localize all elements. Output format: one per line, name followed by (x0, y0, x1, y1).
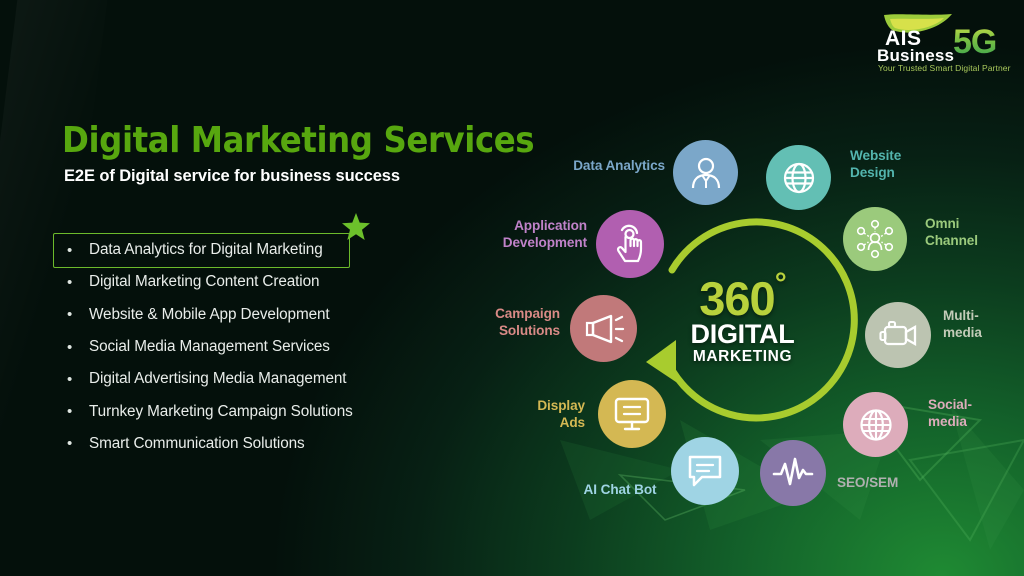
list-item[interactable]: • Digital Marketing Content Creation (62, 266, 462, 298)
pulse-wave-icon (772, 456, 814, 490)
list-item-label: Digital Advertising Media Management (89, 370, 346, 388)
wheel-node-campaign-solutions[interactable] (570, 295, 637, 362)
list-item-label: Turnkey Marketing Campaign Solutions (89, 403, 353, 421)
wheel-center-line3: MARKETING (650, 348, 835, 367)
bullet-glyph: • (62, 306, 89, 323)
wheel-node-website-design[interactable] (766, 145, 831, 210)
wheel-node-application-development[interactable] (596, 210, 664, 278)
wheel-node-display-ads[interactable] (598, 380, 666, 448)
logo-tagline: Your Trusted Smart Digital Partner (878, 63, 1011, 73)
list-item[interactable]: • Smart Communication Solutions (62, 428, 462, 460)
wheel-center-text: 360° DIGITAL MARKETING (650, 270, 835, 367)
bullet-glyph: • (62, 274, 89, 291)
list-item-label: Digital Marketing Content Creation (89, 273, 319, 291)
bullet-glyph: • (62, 339, 89, 356)
wheel-label-social-media: Social- media (928, 397, 1023, 430)
slide-canvas: AIS Business 5G Your Trusted Smart Digit… (0, 0, 1024, 576)
wheel-node-social-media[interactable] (843, 392, 908, 457)
bullet-glyph: • (62, 371, 89, 388)
wheel-label-omni-channel: Omni Channel (925, 216, 1024, 249)
wheel-label-campaign-solutions: Campaign Solutions (445, 306, 560, 339)
person-analyst-icon (687, 154, 725, 192)
wheel-label-ai-chat-bot: AI Chat Bot (540, 482, 700, 499)
wheel-label-data-analytics: Data Analytics (515, 158, 665, 175)
wheel-center-line2: DIGITAL (650, 321, 835, 348)
list-item[interactable]: • Digital Advertising Media Management (62, 363, 462, 395)
wheel-node-multimedia[interactable] (865, 302, 931, 368)
wheel-node-data-analytics[interactable] (673, 140, 738, 205)
network-person-icon (855, 219, 895, 259)
ais-business-logo: AIS Business 5G Your Trusted Smart Digit… (877, 13, 1009, 75)
list-item[interactable]: • Website & Mobile App Development (62, 299, 462, 331)
digital-marketing-wheel: 360° DIGITAL MARKETING Data Analytics We… (455, 110, 1024, 560)
wheel-label-seo-sem: SEO/SEM (837, 475, 947, 492)
touch-hand-icon (611, 224, 649, 264)
globe-icon (780, 159, 818, 197)
list-item-label: Social Media Management Services (89, 338, 330, 356)
list-item-label: Website & Mobile App Development (89, 306, 330, 324)
wheel-label-website-design: Website Design (850, 148, 980, 181)
video-camera-icon (878, 318, 918, 352)
list-item[interactable]: • Turnkey Marketing Campaign Solutions (62, 395, 462, 427)
wheel-label-multimedia: Multi- media (943, 308, 1024, 341)
list-item-label: Smart Communication Solutions (89, 435, 305, 453)
list-item[interactable]: • Data Analytics for Digital Marketing (62, 234, 462, 266)
list-item[interactable]: • Social Media Management Services (62, 331, 462, 363)
bullet-glyph: • (62, 435, 89, 452)
globe-grid-icon (857, 406, 895, 444)
bullet-glyph: • (62, 403, 89, 420)
monitor-display-icon (612, 395, 652, 433)
wheel-label-display-ads: Display Ads (455, 398, 585, 431)
wheel-center-value: 360° (650, 270, 835, 321)
megaphone-icon (583, 312, 625, 346)
wheel-label-application-development: Application Development (435, 218, 587, 251)
list-item-label: Data Analytics for Digital Marketing (89, 241, 323, 259)
bullet-glyph: • (62, 242, 89, 259)
wheel-node-omni-channel[interactable] (843, 207, 907, 271)
page-subtitle: E2E of Digital service for business succ… (64, 167, 400, 186)
logo-5g-badge: 5G (953, 23, 996, 62)
wheel-node-seo-sem[interactable] (760, 440, 826, 506)
services-list: • Data Analytics for Digital Marketing •… (62, 234, 462, 460)
